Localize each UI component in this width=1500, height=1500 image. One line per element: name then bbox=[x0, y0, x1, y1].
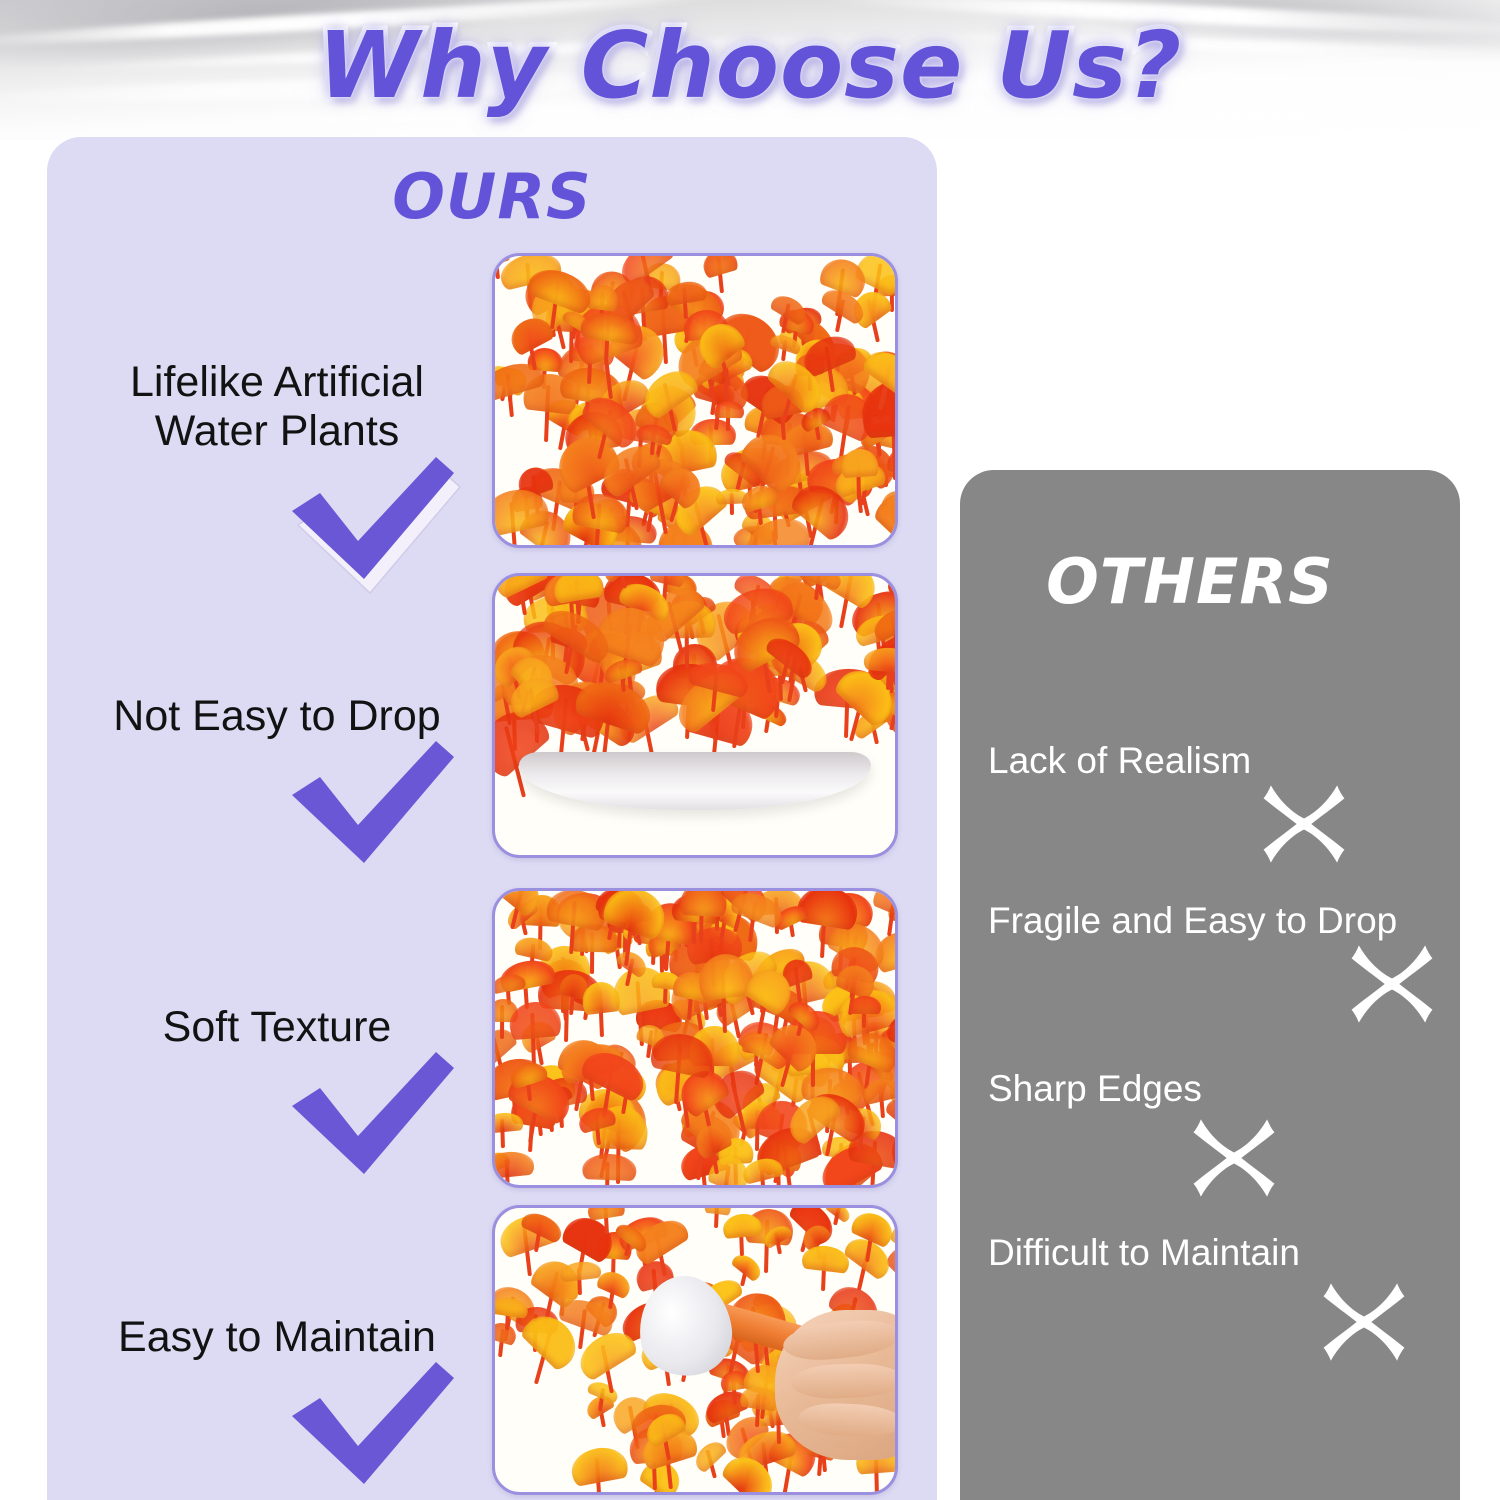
plant-leaf bbox=[730, 1249, 765, 1281]
feature-row-3: Soft Texture bbox=[62, 1003, 492, 1178]
check-wrap-4 bbox=[62, 1368, 492, 1488]
others-heading: OTHERS bbox=[960, 545, 1420, 618]
feature-label-2: Not Easy to Drop bbox=[62, 692, 492, 741]
con-row-2: Fragile and Easy to Drop bbox=[988, 900, 1458, 942]
con-row-3: Sharp Edges bbox=[988, 1068, 1458, 1110]
infographic-root: Why Choose Us? OURS OTHERS Lifelike Arti… bbox=[0, 0, 1500, 1500]
con-row-4: Difficult to Maintain bbox=[988, 1232, 1458, 1274]
plant-artwork bbox=[495, 1208, 895, 1492]
product-photo-4 bbox=[492, 1205, 898, 1495]
check-wrap-2 bbox=[62, 747, 492, 867]
plant-leaf bbox=[680, 891, 727, 917]
plant-leaf bbox=[568, 1443, 629, 1486]
feature-label-4: Easy to Maintain bbox=[62, 1313, 492, 1362]
con-row-1: Lack of Realism bbox=[988, 740, 1458, 782]
plant-leaf bbox=[582, 1153, 637, 1181]
check-icon bbox=[286, 1368, 456, 1488]
con-label-2: Fragile and Easy to Drop bbox=[988, 900, 1458, 942]
check-wrap-3 bbox=[62, 1058, 492, 1178]
plant-leaf bbox=[495, 1150, 535, 1180]
product-photo-3 bbox=[492, 888, 898, 1188]
con-label-1: Lack of Realism bbox=[988, 740, 1458, 782]
con-label-3: Sharp Edges bbox=[988, 1068, 1458, 1110]
check-icon bbox=[286, 1058, 456, 1178]
cross-icon bbox=[1188, 1112, 1280, 1204]
ours-heading: OURS bbox=[47, 160, 937, 233]
plant-leaf bbox=[840, 448, 878, 478]
product-photo-1 bbox=[492, 253, 898, 548]
plant-leaf bbox=[849, 996, 881, 1014]
check-icon bbox=[286, 463, 456, 583]
con-label-4: Difficult to Maintain bbox=[988, 1232, 1458, 1274]
plant-artwork bbox=[495, 891, 895, 1185]
plant-leaf bbox=[802, 1244, 851, 1274]
plant-artwork bbox=[495, 576, 895, 855]
product-photo-2 bbox=[492, 573, 898, 858]
feature-row-4: Easy to Maintain bbox=[62, 1313, 492, 1488]
cross-icon bbox=[1346, 938, 1438, 1030]
plant-leaf bbox=[871, 481, 895, 545]
page-title: Why Choose Us? bbox=[0, 12, 1500, 119]
feature-row-1: Lifelike Artificial Water Plants bbox=[62, 358, 492, 583]
cross-icon bbox=[1258, 778, 1350, 870]
plant-leaf bbox=[514, 935, 555, 963]
cross-icon bbox=[1318, 1276, 1410, 1368]
check-wrap-1 bbox=[62, 463, 492, 583]
feature-row-2: Not Easy to Drop bbox=[62, 692, 492, 867]
plant-leaf bbox=[714, 400, 744, 417]
plant-base bbox=[519, 752, 871, 811]
check-icon bbox=[286, 747, 456, 867]
feature-label-1: Lifelike Artificial Water Plants bbox=[62, 358, 492, 457]
feature-label-3: Soft Texture bbox=[62, 1003, 492, 1052]
plant-artwork bbox=[495, 256, 895, 545]
